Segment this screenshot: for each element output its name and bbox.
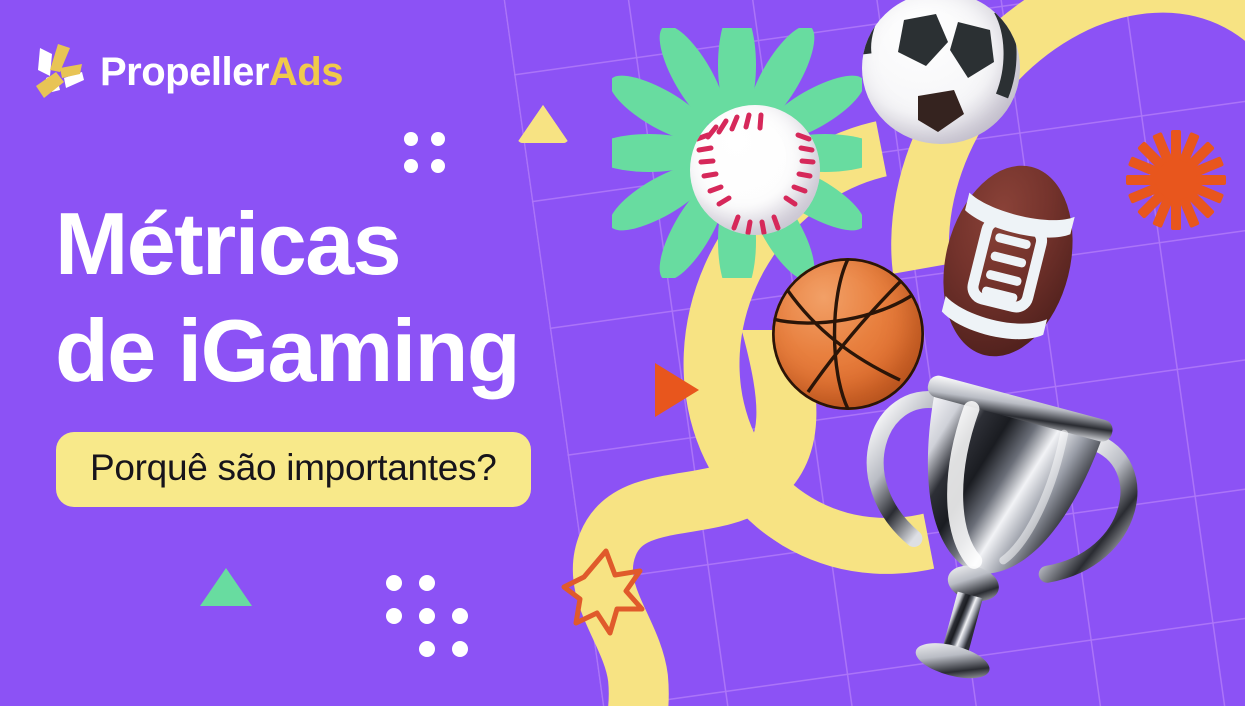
propellerads-logo[interactable]: PropellerAds	[30, 42, 343, 102]
logo-wordmark: PropellerAds	[100, 52, 343, 92]
logo-word-accent: Ads	[269, 50, 343, 94]
orange-sunburst-icon	[1124, 128, 1228, 232]
trophy-icon	[828, 310, 1158, 706]
propeller-logo-mark-icon	[30, 42, 86, 102]
headline-line-2: de iGaming	[55, 297, 675, 404]
yellow-triangle-icon	[517, 105, 569, 143]
orange-star-outline-icon	[560, 545, 646, 637]
subtitle-badge: Porquê são importantes?	[56, 432, 531, 507]
logo-word-primary: Propeller	[100, 50, 269, 94]
green-triangle-icon	[200, 568, 252, 606]
baseball-icon	[690, 105, 820, 235]
headline-line-1: Métricas	[55, 194, 400, 293]
igaming-metrics-banner: PropellerAds Métricas de iGaming Porquê …	[0, 0, 1245, 706]
dot-grid-small	[404, 132, 445, 173]
dot-grid-large	[386, 575, 468, 657]
page-title: Métricas de iGaming	[55, 190, 675, 405]
soccer-ball-icon	[862, 0, 1020, 144]
